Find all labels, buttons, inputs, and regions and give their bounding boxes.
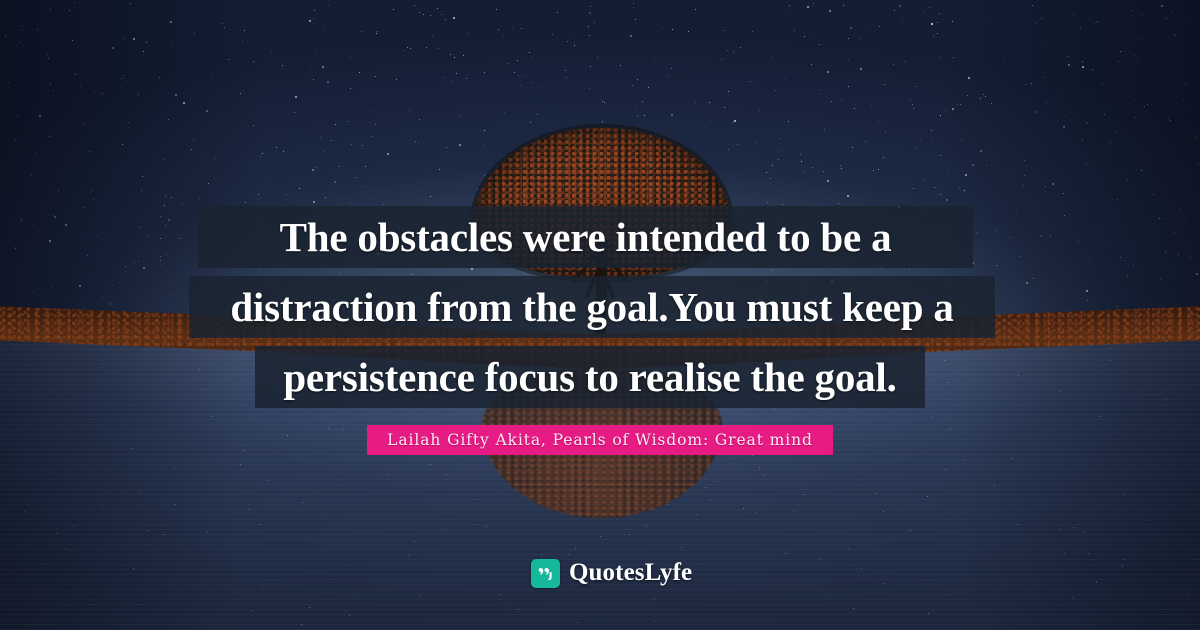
quote-mark-icon (531, 559, 560, 588)
quote-line-1: The obstacles were intended to be a (198, 206, 973, 268)
quote-line-3: persistence focus to realise the goal. (255, 346, 925, 408)
quote-card: The obstacles were intended to be a dist… (0, 0, 1200, 630)
brand-name: QuotesLyfe (569, 559, 692, 587)
quote-line-2: distraction from the goal.You must keep … (189, 276, 995, 338)
quote-attribution: Lailah Gifty Akita, Pearls of Wisdom: Gr… (367, 425, 833, 455)
quote-text-block: The obstacles were intended to be a dist… (0, 0, 1200, 630)
brand-logo[interactable]: QuotesLyfe (531, 558, 692, 588)
